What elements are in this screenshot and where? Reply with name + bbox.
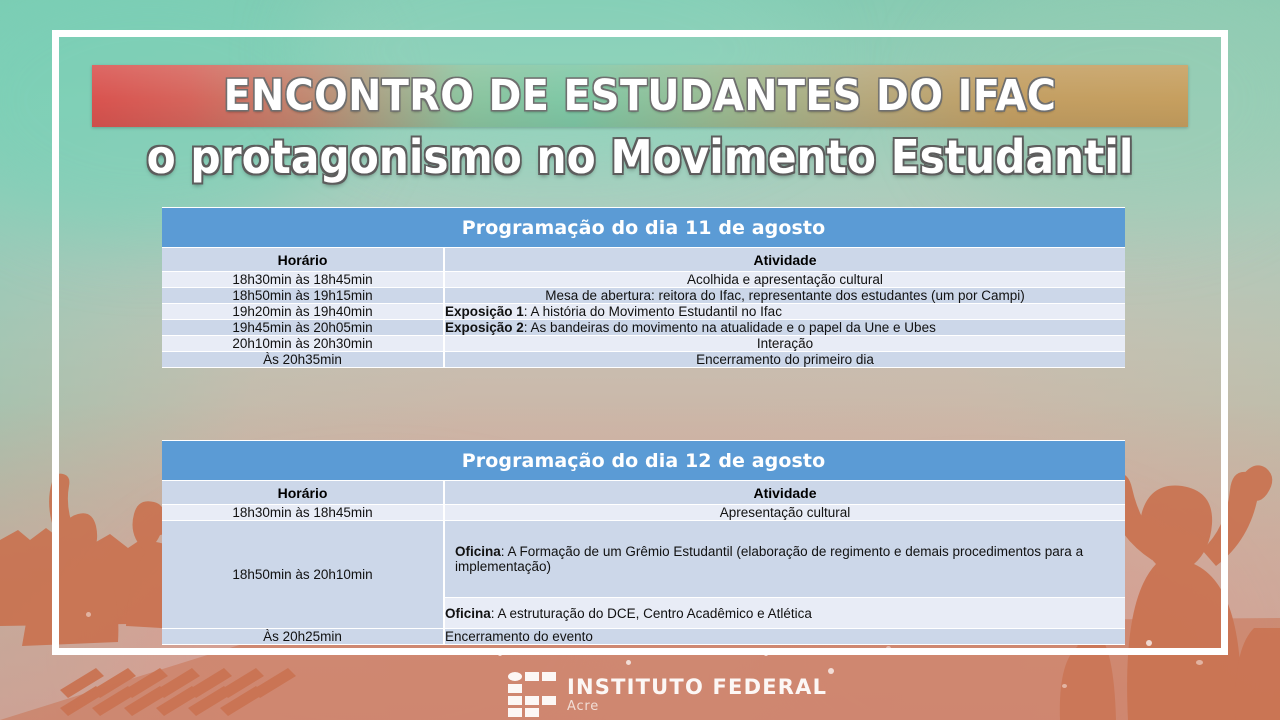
table-row: Às 20h35min Encerramento do primeiro dia: [162, 352, 1125, 367]
cell-activity: Exposição 1: A história do Movimento Est…: [445, 304, 1125, 319]
cell-activity-lead: Oficina: [445, 606, 491, 621]
table-banner-label: Programação do dia 11 de agosto: [162, 208, 1125, 247]
logo-title: INSTITUTO FEDERAL: [567, 677, 827, 698]
table-row: 18h50min às 19h15min Mesa de abertura: r…: [162, 288, 1125, 303]
speckle-dot: [886, 646, 891, 651]
cell-activity-text: : A Formação de um Grêmio Estudantil (el…: [455, 544, 1083, 574]
cell-time: 20h10min às 20h30min: [162, 336, 443, 351]
table-header-row: Horário Atividade: [162, 248, 1125, 271]
speckle-dot: [1062, 684, 1067, 688]
schedule-table-day-1: Programação do dia 11 de agosto Horário …: [162, 207, 1125, 368]
cell-activity: Encerramento do primeiro dia: [445, 352, 1125, 367]
cell-time: Às 20h35min: [162, 352, 443, 367]
speckle-dot: [828, 668, 834, 674]
speckle-dot: [764, 652, 768, 656]
cell-activity-text: : As bandeiras do movimento na atualidad…: [524, 320, 936, 335]
table-row: 20h10min às 20h30min Interação: [162, 336, 1125, 351]
cell-time: 19h45min às 20h05min: [162, 320, 443, 335]
table-row: 18h30min às 18h45min Apresentação cultur…: [162, 505, 1125, 520]
speckle-dot: [86, 612, 91, 617]
column-header-atividade: Atividade: [445, 248, 1125, 271]
table-row: Às 20h25min Encerramento do evento: [162, 629, 1125, 644]
column-header-horario: Horário: [162, 481, 443, 504]
speckle-dot: [626, 660, 631, 665]
cell-activity: Acolhida e apresentação cultural: [445, 272, 1125, 287]
page-title: ENCONTRO DE ESTUDANTES DO IFAC: [136, 66, 1144, 126]
cell-time: Às 20h25min: [162, 629, 443, 644]
table-header-row: Horário Atividade: [162, 481, 1125, 504]
logo-wordmark: INSTITUTO FEDERAL Acre: [567, 677, 827, 713]
cell-activity-text: : A história do Movimento Estudantil no …: [524, 304, 782, 319]
cell-activity-lead: Exposição 2: [445, 320, 524, 335]
speckle-dot: [1146, 640, 1152, 646]
table-banner-row: Programação do dia 11 de agosto: [162, 208, 1125, 247]
cell-activity: Mesa de abertura: reitora do Ifac, repre…: [445, 288, 1125, 303]
ifac-grid-logo-icon: [508, 672, 556, 717]
speckle-dot: [498, 652, 502, 656]
table-row: 19h20min às 19h40min Exposição 1: A hist…: [162, 304, 1125, 319]
cell-activity: Encerramento do evento: [445, 629, 1125, 644]
table-banner-label: Programação do dia 12 de agosto: [162, 441, 1125, 480]
table-row: 18h50min às 20h10min Oficina: A Formação…: [162, 521, 1125, 597]
table-row: 19h45min às 20h05min Exposição 2: As ban…: [162, 320, 1125, 335]
column-header-atividade: Atividade: [445, 481, 1125, 504]
cell-activity: Exposição 2: As bandeiras do movimento n…: [445, 320, 1125, 335]
column-header-horario: Horário: [162, 248, 443, 271]
table-banner-row: Programação do dia 12 de agosto: [162, 441, 1125, 480]
page-subtitle: o protagonismo no Movimento Estudantil: [106, 128, 1173, 186]
cell-activity: Oficina: A Formação de um Grêmio Estudan…: [445, 521, 1125, 597]
cell-time: 18h30min às 18h45min: [162, 272, 443, 287]
table-row: 18h30min às 18h45min Acolhida e apresent…: [162, 272, 1125, 287]
cell-time: 18h30min às 18h45min: [162, 505, 443, 520]
logo-subtitle: Acre: [567, 700, 827, 713]
cell-activity-lead: Oficina: [455, 544, 501, 559]
speckle-dot: [424, 648, 429, 653]
cell-time: 19h20min às 19h40min: [162, 304, 443, 319]
cell-time: 18h50min às 20h10min: [162, 521, 443, 628]
cell-activity-lead: Exposição 1: [445, 304, 524, 319]
speckle-dot: [1196, 660, 1203, 665]
institution-logo: INSTITUTO FEDERAL Acre: [508, 672, 827, 717]
cell-activity: Apresentação cultural: [445, 505, 1125, 520]
schedule-table-day-2: Programação do dia 12 de agosto Horário …: [162, 440, 1125, 645]
cell-activity: Interação: [445, 336, 1125, 351]
cell-activity-text: : A estruturação do DCE, Centro Acadêmic…: [491, 606, 812, 621]
cell-activity: Oficina: A estruturação do DCE, Centro A…: [445, 598, 1125, 628]
poster-canvas: ENCONTRO DE ESTUDANTES DO IFAC o protago…: [0, 0, 1280, 720]
cell-time: 18h50min às 19h15min: [162, 288, 443, 303]
